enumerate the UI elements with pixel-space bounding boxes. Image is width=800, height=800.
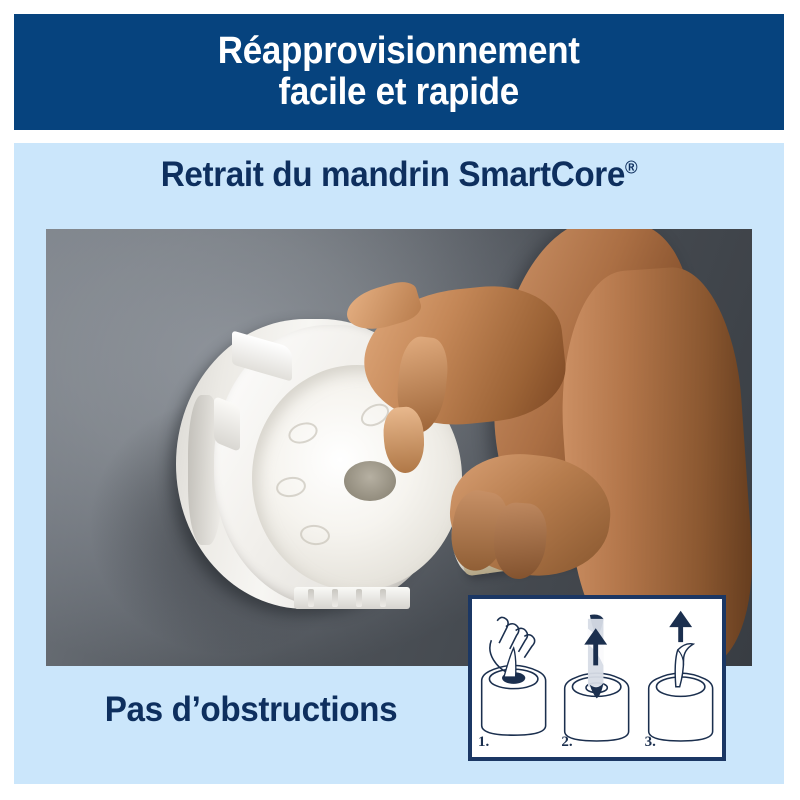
- section-subtitle: Retrait du mandrin SmartCore®: [33, 155, 765, 195]
- step-number: 3.: [645, 734, 656, 751]
- roll-emboss-mark: [286, 419, 321, 447]
- registered-trademark-icon: ®: [625, 157, 637, 177]
- dispenser-clip: [308, 589, 314, 607]
- dispenser-clip: [332, 589, 338, 607]
- subtitle-text: Retrait du mandrin SmartCore: [161, 155, 625, 194]
- dispenser-clip: [380, 589, 386, 607]
- step-number: 2.: [561, 734, 572, 751]
- step-number: 1.: [478, 734, 489, 751]
- photo-caption: Pas d’obstructions: [56, 690, 446, 730]
- header-banner: Réapprovisionnement facile et rapide: [14, 14, 784, 130]
- banner-title: Réapprovisionnement facile et rapide: [218, 31, 580, 113]
- instruction-step-1: 1.: [472, 599, 555, 757]
- advertisement-page: Réapprovisionnement facile et rapide Ret…: [0, 0, 800, 800]
- roll-emboss-mark: [275, 475, 307, 499]
- roll-emboss-mark: [299, 523, 331, 546]
- dispenser-clip: [356, 589, 362, 607]
- instruction-steps: 1. 2.: [472, 599, 722, 757]
- instruction-step-2: 2.: [555, 599, 638, 757]
- instruction-inset: 1. 2.: [468, 595, 726, 761]
- roll-center-hole: [344, 461, 396, 501]
- instruction-step-3: 3.: [639, 599, 722, 757]
- dispenser-bottom-clips: [294, 587, 410, 609]
